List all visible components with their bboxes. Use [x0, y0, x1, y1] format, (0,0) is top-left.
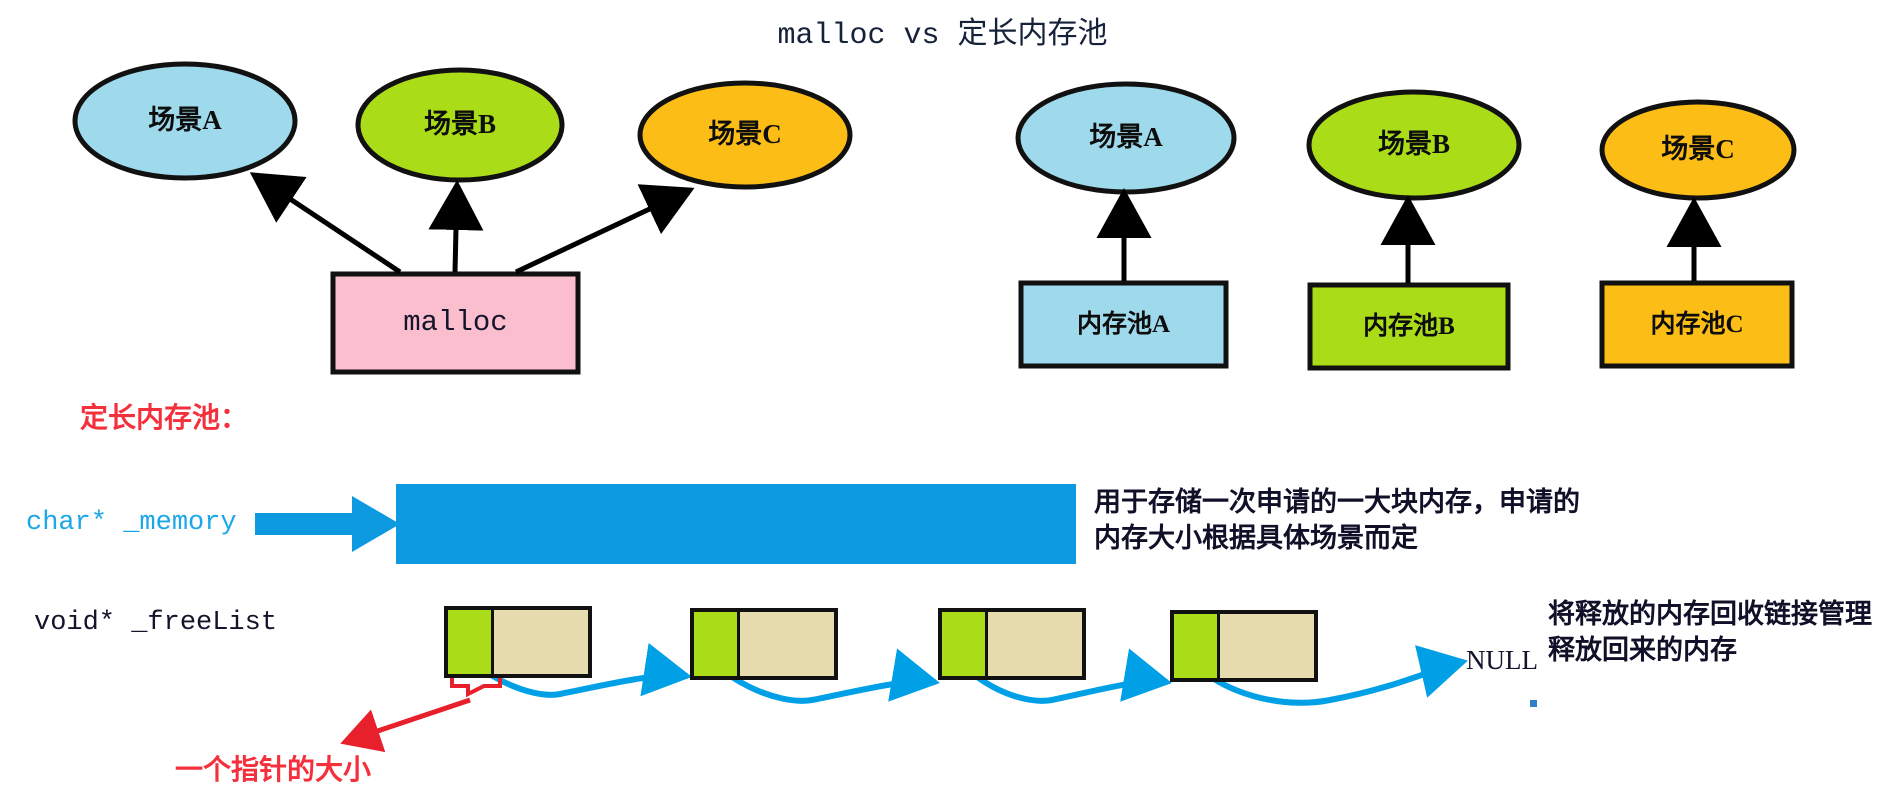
- freelist-data-slot: [494, 610, 588, 674]
- freelist-field-label: void* _freeList: [34, 608, 277, 638]
- pool-box-b: [1310, 285, 1508, 368]
- freelist-block-1: [444, 606, 592, 678]
- scene-ellipse-b-pool: [1309, 92, 1519, 198]
- freelist-pointer-slot: [942, 612, 988, 676]
- pointer-size-note: 一个指针的大小: [175, 748, 371, 788]
- scene-ellipse-a-malloc: [75, 64, 295, 178]
- arrow-malloc-to-scene-b: [455, 185, 457, 272]
- freelist-pointer-slot: [1174, 614, 1220, 678]
- scene-ellipse-a-pool: [1018, 84, 1234, 192]
- memory-annotation: 用于存储一次申请的一大块内存，申请的内存大小根据具体场景而定: [1094, 484, 1594, 556]
- scene-ellipse-b-malloc: [358, 70, 562, 180]
- malloc-box: [333, 274, 578, 372]
- scene-ellipse-c-malloc: [640, 83, 850, 187]
- pointer-size-arrow: [345, 700, 470, 742]
- freelist-block-4: [1170, 610, 1318, 682]
- freelist-block-3: [938, 608, 1086, 680]
- freelist-data-slot: [1220, 614, 1314, 678]
- memory-field-label: char* _memory: [26, 508, 237, 538]
- scene-ellipse-c-pool: [1602, 102, 1794, 198]
- freelist-pointer-slot: [694, 612, 740, 676]
- arrow-malloc-to-scene-c: [516, 190, 690, 272]
- diagram-canvas: malloc vs 定长内存池: [0, 0, 1885, 796]
- memory-pointer-arrow: [255, 496, 400, 552]
- arrow-malloc-to-scene-a: [254, 175, 400, 272]
- freelist-block-2: [690, 608, 838, 680]
- freelist-annotation: 将释放的内存回收链接管理释放回来的内存: [1548, 596, 1878, 668]
- stray-dot: [1530, 700, 1537, 707]
- freelist-pointer-slot: [448, 610, 494, 674]
- memory-block-bar: [396, 484, 1076, 564]
- pool-box-a: [1021, 283, 1226, 366]
- freelist-null-label: NULL: [1466, 645, 1538, 676]
- freelist-data-slot: [988, 612, 1082, 676]
- pool-box-c: [1602, 283, 1792, 366]
- section-heading: 定长内存池：: [80, 396, 248, 436]
- freelist-data-slot: [740, 612, 834, 676]
